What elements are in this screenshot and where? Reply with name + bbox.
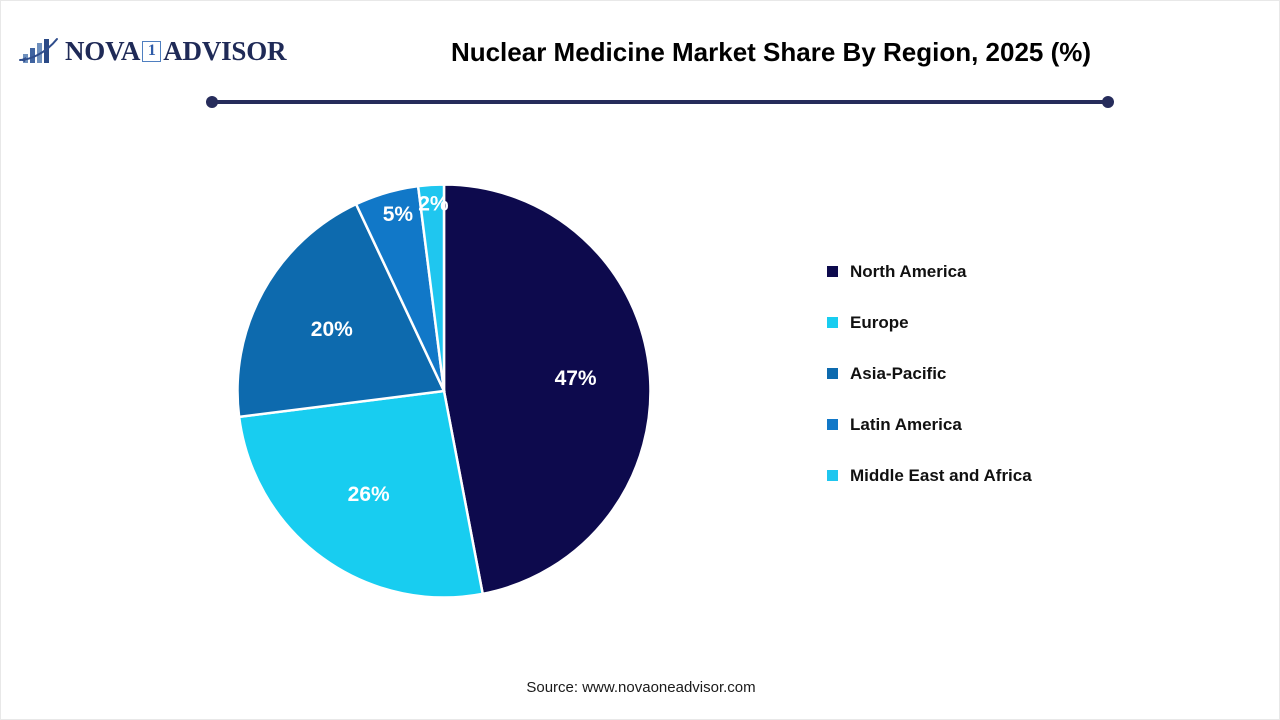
legend-item-label: Latin America <box>850 415 962 435</box>
pie-chart: 47%26%20%5%2% <box>237 184 651 598</box>
legend-swatch-icon <box>827 368 838 379</box>
pie-slice[interactable] <box>444 185 650 594</box>
bar-chart-swoosh-icon <box>19 36 63 66</box>
logo-word-nova: NOVA <box>65 36 140 67</box>
legend-swatch-icon <box>827 419 838 430</box>
legend-item-label: Europe <box>850 313 909 333</box>
legend-item-label: North America <box>850 262 967 282</box>
header-divider <box>206 96 1114 108</box>
pie-slice-label: 20% <box>311 318 353 341</box>
source-note: Source: www.novaoneadvisor.com <box>1 679 1280 696</box>
legend-item-label: Middle East and Africa <box>850 466 1032 486</box>
pie-slice-label: 47% <box>555 367 597 390</box>
legend-item[interactable]: Europe <box>827 297 1207 348</box>
legend-swatch-icon <box>827 266 838 277</box>
legend-item[interactable]: Middle East and Africa <box>827 450 1207 501</box>
pie-slice-group <box>238 185 651 598</box>
pie-chart-svg: 47%26%20%5%2% <box>237 184 651 598</box>
logo-wordmark: NOVA 1 ADVISOR <box>65 36 286 67</box>
pie-slice-label: 2% <box>418 193 449 216</box>
pie-slice-label: 5% <box>383 203 414 226</box>
legend-item[interactable]: Latin America <box>827 399 1207 450</box>
logo-word-advisor: ADVISOR <box>163 36 286 67</box>
logo-badge-one: 1 <box>142 41 161 62</box>
chart-legend: North AmericaEuropeAsia-PacificLatin Ame… <box>827 246 1207 501</box>
legend-item[interactable]: North America <box>827 246 1207 297</box>
chart-page: NOVA 1 ADVISOR Nuclear Medicine Market S… <box>0 0 1280 720</box>
legend-swatch-icon <box>827 470 838 481</box>
legend-item-label: Asia-Pacific <box>850 364 946 384</box>
pie-slice-label: 26% <box>348 483 390 506</box>
legend-item[interactable]: Asia-Pacific <box>827 348 1207 399</box>
chart-title: Nuclear Medicine Market Share By Region,… <box>291 37 1251 68</box>
divider-cap-right <box>1102 96 1114 108</box>
legend-swatch-icon <box>827 317 838 328</box>
divider-line <box>212 100 1108 104</box>
nova-one-advisor-logo: NOVA 1 ADVISOR <box>19 31 286 71</box>
